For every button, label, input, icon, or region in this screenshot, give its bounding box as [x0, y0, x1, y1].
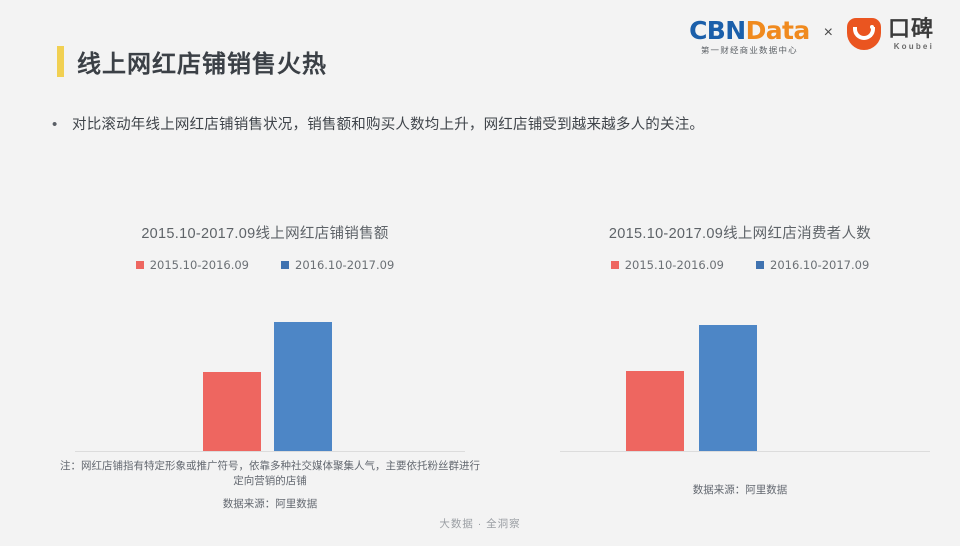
multiply-separator-icon: × [822, 24, 835, 42]
koubei-logo: 口碑 Koubei [847, 18, 934, 51]
chart-plot-area [55, 290, 475, 452]
cbndata-wordmark-secondary: Data [746, 16, 810, 45]
legend-item-prev-year[interactable]: 2015.10-2016.09 [136, 258, 249, 272]
chart-bars [540, 290, 940, 451]
cbndata-logo: CBNData 第一财经商业数据中心 [689, 18, 810, 55]
legend-swatch-icon [756, 261, 764, 269]
legend-swatch-icon [136, 261, 144, 269]
chart-plot-area [540, 290, 940, 452]
bullet-item: • 对比滚动年线上网红店铺销售状况，销售额和购买人数均上升，网红店铺受到越来越多… [52, 115, 704, 135]
chart-title: 2015.10-2017.09线上网红店铺销售额 [55, 222, 475, 243]
bar-2016-2017[interactable] [699, 325, 757, 451]
chart-consumer-count: 2015.10-2017.09线上网红店消费者人数 2015.10-2016.0… [540, 222, 940, 452]
bar-2016-2017[interactable] [274, 322, 332, 451]
chart-source-right: 数据来源：阿里数据 [540, 482, 940, 497]
chart-x-axis [560, 451, 930, 452]
chart-title: 2015.10-2017.09线上网红店消费者人数 [540, 222, 940, 243]
koubei-wordmark: 口碑 Koubei [888, 18, 934, 51]
page-title-text: 线上网红店铺销售火热 [77, 44, 327, 79]
legend-swatch-icon [281, 261, 289, 269]
legend-label: 2016.10-2017.09 [295, 258, 394, 272]
cbndata-wordmark-primary: CBN [689, 16, 746, 45]
chart-x-axis [75, 451, 465, 452]
chart-sales-amount: 2015.10-2017.09线上网红店铺销售额 2015.10-2016.09… [55, 222, 475, 452]
legend-swatch-icon [611, 261, 619, 269]
koubei-wordmark-cn: 口碑 [888, 18, 934, 40]
koubei-smile-icon [847, 18, 881, 50]
legend-item-current-year[interactable]: 2016.10-2017.09 [756, 258, 869, 272]
koubei-wordmark-en: Koubei [888, 43, 934, 51]
chart-source-left: 数据来源：阿里数据 [60, 496, 480, 511]
page-title: 线上网红店铺销售火热 [57, 44, 327, 79]
bar-2015-2016[interactable] [203, 372, 261, 451]
chart-legend: 2015.10-2016.09 2016.10-2017.09 [540, 258, 940, 272]
footer-watermark: 大数据 · 全洞察 [0, 516, 960, 531]
bullet-text: 对比滚动年线上网红店铺销售状况，销售额和购买人数均上升，网红店铺受到越来越多人的… [72, 115, 704, 135]
bar-2015-2016[interactable] [626, 371, 684, 452]
legend-item-current-year[interactable]: 2016.10-2017.09 [281, 258, 394, 272]
title-accent-bar [57, 46, 64, 77]
slide-canvas: CBNData 第一财经商业数据中心 × 口碑 Koubei 线上网红店铺销售火… [0, 0, 960, 546]
chart-note-left: 注：网红店铺指有特定形象或推广符号，依靠多种社交媒体聚集人气，主要依托粉丝群进行… [60, 459, 480, 489]
bullet-marker-icon: • [52, 115, 72, 135]
brand-bar: CBNData 第一财经商业数据中心 × 口碑 Koubei [689, 18, 934, 55]
cbndata-subtitle: 第一财经商业数据中心 [701, 46, 798, 54]
chart-bars [55, 290, 475, 451]
chart-legend: 2015.10-2016.09 2016.10-2017.09 [55, 258, 475, 272]
cbndata-wordmark: CBNData [689, 18, 810, 43]
legend-label: 2015.10-2016.09 [150, 258, 249, 272]
legend-item-prev-year[interactable]: 2015.10-2016.09 [611, 258, 724, 272]
legend-label: 2016.10-2017.09 [770, 258, 869, 272]
legend-label: 2015.10-2016.09 [625, 258, 724, 272]
